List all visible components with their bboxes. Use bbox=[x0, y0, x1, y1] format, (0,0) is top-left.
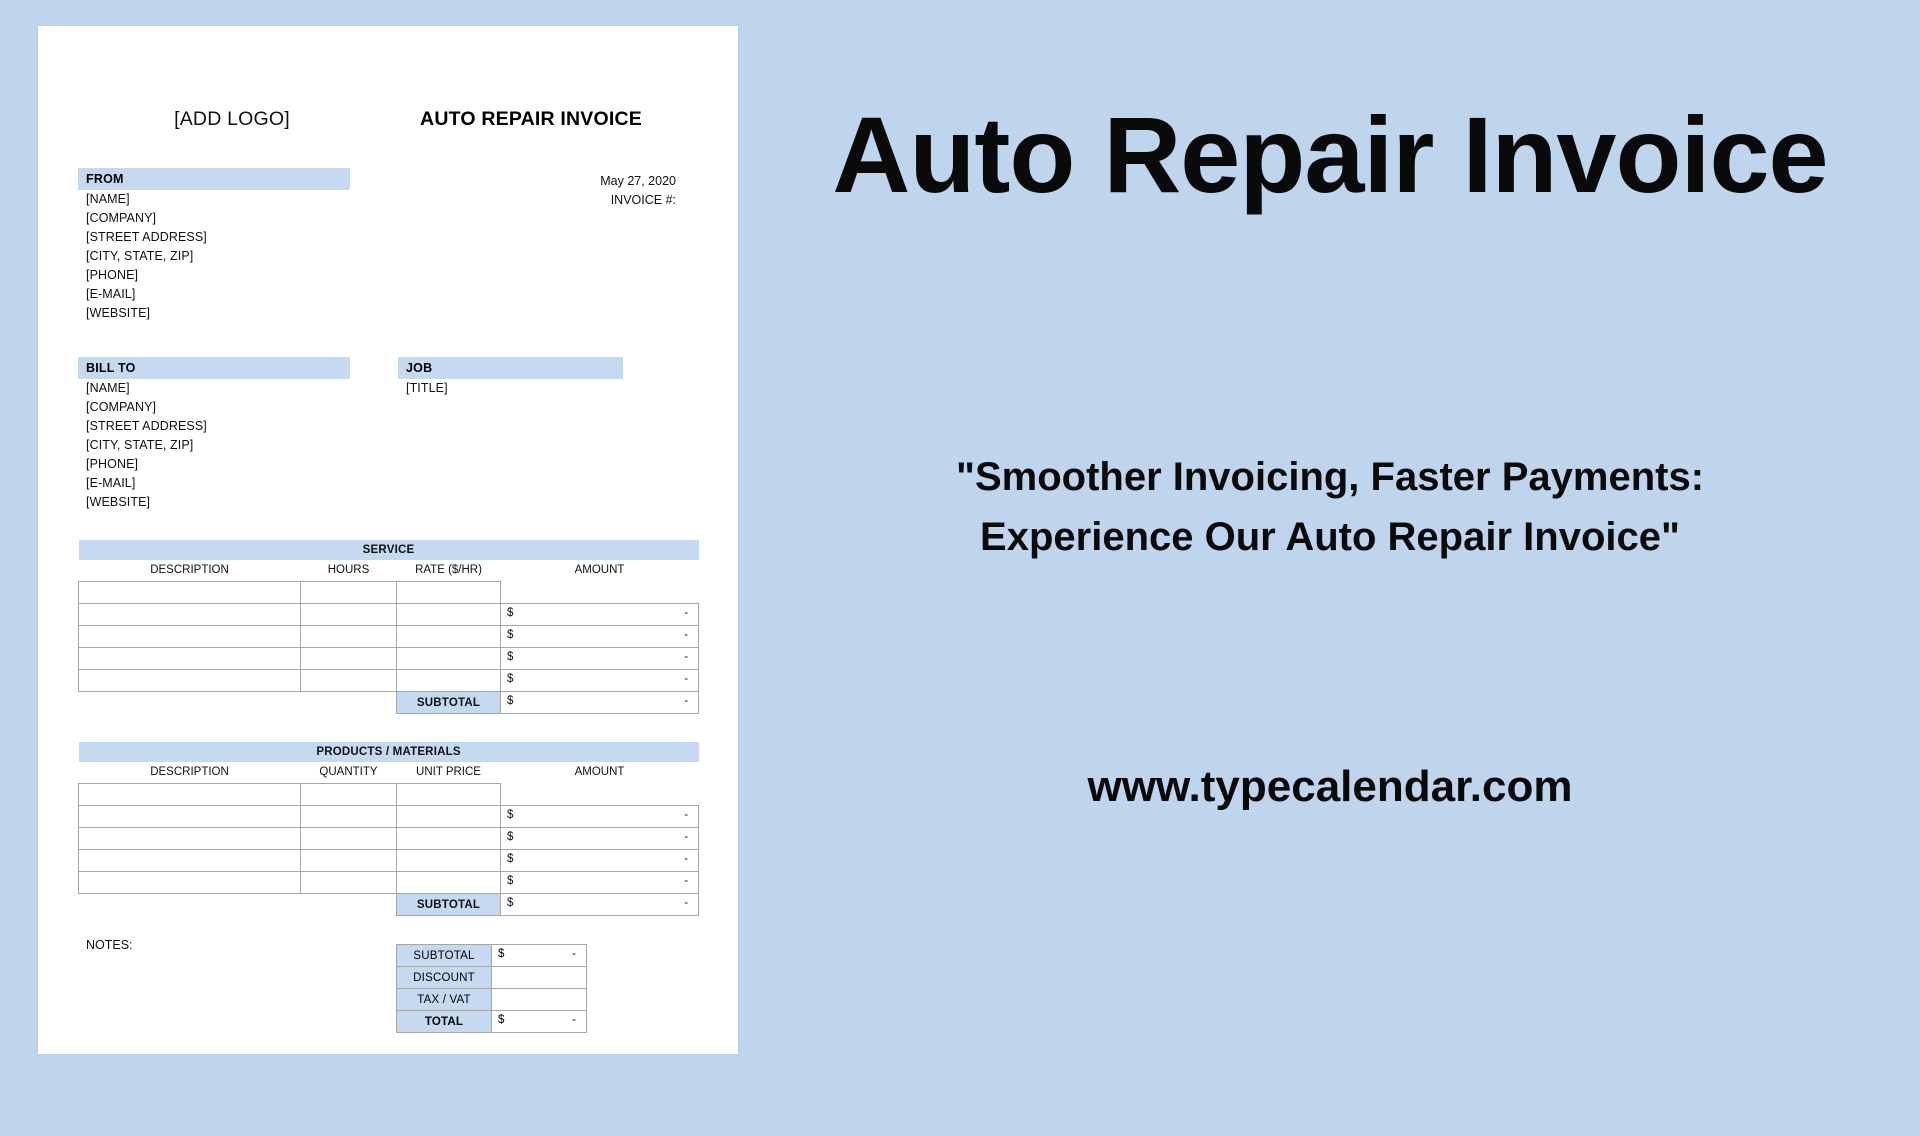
service-row-amount[interactable]: $ - bbox=[501, 670, 699, 692]
bill-to-heading: BILL TO bbox=[78, 357, 350, 379]
totals-value-discount[interactable] bbox=[492, 967, 587, 989]
service-section-header-row: SERVICE bbox=[79, 540, 699, 560]
table-row[interactable] bbox=[79, 582, 699, 604]
bill-to-phone[interactable]: [PHONE] bbox=[78, 455, 350, 474]
currency-symbol: $ bbox=[507, 695, 513, 707]
products-row-unit-price[interactable] bbox=[397, 872, 501, 894]
table-row[interactable]: $ - bbox=[79, 670, 699, 692]
amount-value: - bbox=[684, 831, 688, 843]
amount-value: - bbox=[572, 948, 576, 960]
totals-value-tax-vat[interactable] bbox=[492, 989, 587, 1011]
from-street-address[interactable]: [STREET ADDRESS] bbox=[78, 228, 350, 247]
service-row-description[interactable] bbox=[79, 670, 301, 692]
bill-to-company[interactable]: [COMPANY] bbox=[78, 398, 350, 417]
products-row-quantity[interactable] bbox=[301, 784, 397, 806]
currency-symbol: $ bbox=[498, 1014, 504, 1026]
products-row-description[interactable] bbox=[79, 872, 301, 894]
from-company[interactable]: [COMPANY] bbox=[78, 209, 350, 228]
from-and-meta-row: FROM [NAME] [COMPANY] [STREET ADDRESS] [… bbox=[78, 142, 698, 323]
products-col-unit-price: UNIT PRICE bbox=[397, 762, 501, 784]
products-row-amount[interactable]: $ - bbox=[501, 828, 699, 850]
products-row-unit-price[interactable] bbox=[397, 850, 501, 872]
service-row-hours[interactable] bbox=[301, 626, 397, 648]
currency-symbol: $ bbox=[507, 673, 513, 685]
table-row[interactable]: $ - bbox=[79, 648, 699, 670]
products-row-unit-price[interactable] bbox=[397, 828, 501, 850]
currency-symbol: $ bbox=[507, 831, 513, 843]
amount-value: - bbox=[684, 875, 688, 887]
products-row-description[interactable] bbox=[79, 828, 301, 850]
amount-value: - bbox=[572, 1014, 576, 1026]
table-row[interactable]: $ - bbox=[79, 872, 699, 894]
products-row-unit-price[interactable] bbox=[397, 784, 501, 806]
service-section-title: SERVICE bbox=[79, 540, 699, 560]
products-subtotal-label: SUBTOTAL bbox=[397, 894, 501, 916]
currency-symbol: $ bbox=[507, 629, 513, 641]
products-row-quantity[interactable] bbox=[301, 850, 397, 872]
service-row-rate[interactable] bbox=[397, 626, 501, 648]
from-email[interactable]: [E-MAIL] bbox=[78, 285, 350, 304]
totals-label-discount: DISCOUNT bbox=[397, 967, 492, 989]
currency-symbol: $ bbox=[507, 853, 513, 865]
job-heading: JOB bbox=[398, 357, 623, 379]
service-row-rate[interactable] bbox=[397, 670, 501, 692]
products-row-description[interactable] bbox=[79, 850, 301, 872]
invoice-header: [ADD LOGO] AUTO REPAIR INVOICE bbox=[78, 108, 698, 142]
products-section-title: PRODUCTS / MATERIALS bbox=[79, 742, 699, 762]
bill-to-email[interactable]: [E-MAIL] bbox=[78, 474, 350, 493]
products-row-unit-price[interactable] bbox=[397, 806, 501, 828]
service-column-header-row: DESCRIPTION HOURS RATE ($/HR) AMOUNT bbox=[79, 560, 699, 582]
service-row-amount[interactable]: $ - bbox=[501, 626, 699, 648]
currency-symbol: $ bbox=[507, 875, 513, 887]
from-city-state-zip[interactable]: [CITY, STATE, ZIP] bbox=[78, 247, 350, 266]
from-name[interactable]: [NAME] bbox=[78, 190, 350, 209]
products-row-amount[interactable]: $ - bbox=[501, 850, 699, 872]
currency-symbol: $ bbox=[507, 607, 513, 619]
service-row-description[interactable] bbox=[79, 626, 301, 648]
totals-label-subtotal: SUBTOTAL bbox=[397, 945, 492, 967]
bill-to-city-state-zip[interactable]: [CITY, STATE, ZIP] bbox=[78, 436, 350, 455]
products-materials-table: PRODUCTS / MATERIALS DESCRIPTION QUANTIT… bbox=[78, 742, 699, 916]
job-title[interactable]: [TITLE] bbox=[398, 379, 623, 398]
products-column-header-row: DESCRIPTION QUANTITY UNIT PRICE AMOUNT bbox=[79, 762, 699, 784]
from-block: FROM [NAME] [COMPANY] [STREET ADDRESS] [… bbox=[78, 168, 350, 323]
add-logo-placeholder[interactable]: [ADD LOGO] bbox=[78, 108, 386, 131]
products-col-amount: AMOUNT bbox=[501, 762, 699, 784]
from-heading: FROM bbox=[78, 168, 350, 190]
invoice-number-label[interactable]: INVOICE #: bbox=[396, 191, 676, 210]
table-row[interactable]: $ - bbox=[79, 806, 699, 828]
service-subtotal-row: SUBTOTAL $ - bbox=[79, 692, 699, 714]
invoice-meta: May 27, 2020 INVOICE #: bbox=[396, 172, 698, 210]
service-row-rate[interactable] bbox=[397, 582, 501, 604]
screenshot-root: [ADD LOGO] AUTO REPAIR INVOICE FROM [NAM… bbox=[0, 0, 1920, 1080]
promo-title: Auto Repair Invoice bbox=[832, 92, 1827, 217]
job-block: JOB [TITLE] bbox=[398, 357, 623, 512]
notes-label[interactable]: NOTES: bbox=[78, 938, 396, 952]
bill-to-block: BILL TO [NAME] [COMPANY] [STREET ADDRESS… bbox=[78, 357, 350, 512]
bill-to-name[interactable]: [NAME] bbox=[78, 379, 350, 398]
promo-tagline: "Smoother Invoicing, Faster Payments: Ex… bbox=[956, 447, 1704, 567]
totals-row-total: TOTAL $ - bbox=[397, 1011, 587, 1033]
products-row-amount[interactable]: $ - bbox=[501, 806, 699, 828]
promo-tagline-line2: Experience Our Auto Repair Invoice" bbox=[956, 507, 1704, 567]
invoice-date[interactable]: May 27, 2020 bbox=[396, 172, 676, 191]
products-row-amount[interactable]: $ - bbox=[501, 872, 699, 894]
table-row[interactable]: $ - bbox=[79, 850, 699, 872]
service-row-hours[interactable] bbox=[301, 582, 397, 604]
service-row-description[interactable] bbox=[79, 582, 301, 604]
amount-value: - bbox=[684, 695, 688, 707]
products-row-description[interactable] bbox=[79, 806, 301, 828]
totals-row-subtotal: SUBTOTAL $ - bbox=[397, 945, 587, 967]
service-table: SERVICE DESCRIPTION HOURS RATE ($/HR) AM… bbox=[78, 540, 699, 714]
service-row-rate[interactable] bbox=[397, 604, 501, 626]
service-row-description[interactable] bbox=[79, 604, 301, 626]
currency-symbol: $ bbox=[498, 948, 504, 960]
totals-label-total: TOTAL bbox=[397, 1011, 492, 1033]
service-subtotal-amount: $ - bbox=[501, 692, 699, 714]
service-row-hours[interactable] bbox=[301, 648, 397, 670]
table-row[interactable]: $ - bbox=[79, 604, 699, 626]
service-row-hours[interactable] bbox=[301, 604, 397, 626]
promo-website-url[interactable]: www.typecalendar.com bbox=[1088, 762, 1573, 812]
service-col-rate: RATE ($/HR) bbox=[397, 560, 501, 582]
bill-to-street-address[interactable]: [STREET ADDRESS] bbox=[78, 417, 350, 436]
amount-value: - bbox=[684, 809, 688, 821]
totals-table: SUBTOTAL $ - DISCOUNT bbox=[396, 944, 587, 1033]
promo-tagline-line1: "Smoother Invoicing, Faster Payments: bbox=[956, 447, 1704, 507]
totals-label-tax-vat: TAX / VAT bbox=[397, 989, 492, 1011]
table-row[interactable] bbox=[79, 784, 699, 806]
totals-row-tax: TAX / VAT bbox=[397, 989, 587, 1011]
amount-value: - bbox=[684, 607, 688, 619]
currency-symbol: $ bbox=[507, 897, 513, 909]
totals-value-total[interactable]: $ - bbox=[492, 1011, 587, 1033]
amount-value: - bbox=[684, 673, 688, 685]
service-col-amount: AMOUNT bbox=[501, 560, 699, 582]
table-row[interactable]: $ - bbox=[79, 626, 699, 648]
from-phone[interactable]: [PHONE] bbox=[78, 266, 350, 285]
service-row-amount[interactable]: $ - bbox=[501, 604, 699, 626]
promo-panel: Auto Repair Invoice "Smoother Invoicing,… bbox=[740, 0, 1920, 1080]
products-row-quantity[interactable] bbox=[301, 806, 397, 828]
amount-value: - bbox=[684, 651, 688, 663]
products-section-header-row: PRODUCTS / MATERIALS bbox=[79, 742, 699, 762]
totals-value-subtotal[interactable]: $ - bbox=[492, 945, 587, 967]
totals-row-discount: DISCOUNT bbox=[397, 967, 587, 989]
products-row-quantity[interactable] bbox=[301, 828, 397, 850]
products-col-quantity: QUANTITY bbox=[301, 762, 397, 784]
table-row[interactable]: $ - bbox=[79, 828, 699, 850]
amount-value: - bbox=[684, 853, 688, 865]
products-subtotal-row: SUBTOTAL $ - bbox=[79, 894, 699, 916]
amount-value: - bbox=[684, 897, 688, 909]
service-row-amount[interactable]: $ - bbox=[501, 648, 699, 670]
service-row-hours[interactable] bbox=[301, 670, 397, 692]
amount-value: - bbox=[684, 629, 688, 641]
service-col-description: DESCRIPTION bbox=[79, 560, 301, 582]
service-row-description[interactable] bbox=[79, 648, 301, 670]
from-website[interactable]: [WEBSITE] bbox=[78, 304, 350, 323]
notes-and-totals-row: NOTES: SUBTOTAL $ - DISCOUNT bbox=[78, 916, 698, 1033]
service-subtotal-label: SUBTOTAL bbox=[397, 692, 501, 714]
service-col-hours: HOURS bbox=[301, 560, 397, 582]
products-row-quantity[interactable] bbox=[301, 872, 397, 894]
bill-to-website[interactable]: [WEBSITE] bbox=[78, 493, 350, 512]
currency-symbol: $ bbox=[507, 809, 513, 821]
products-row-description[interactable] bbox=[79, 784, 301, 806]
products-col-description: DESCRIPTION bbox=[79, 762, 301, 784]
products-subtotal-amount: $ - bbox=[501, 894, 699, 916]
page-title: AUTO REPAIR INVOICE bbox=[386, 108, 698, 131]
invoice-sheet: [ADD LOGO] AUTO REPAIR INVOICE FROM [NAM… bbox=[38, 26, 738, 1054]
billto-and-job-row: BILL TO [NAME] [COMPANY] [STREET ADDRESS… bbox=[78, 357, 698, 512]
service-row-rate[interactable] bbox=[397, 648, 501, 670]
currency-symbol: $ bbox=[507, 651, 513, 663]
